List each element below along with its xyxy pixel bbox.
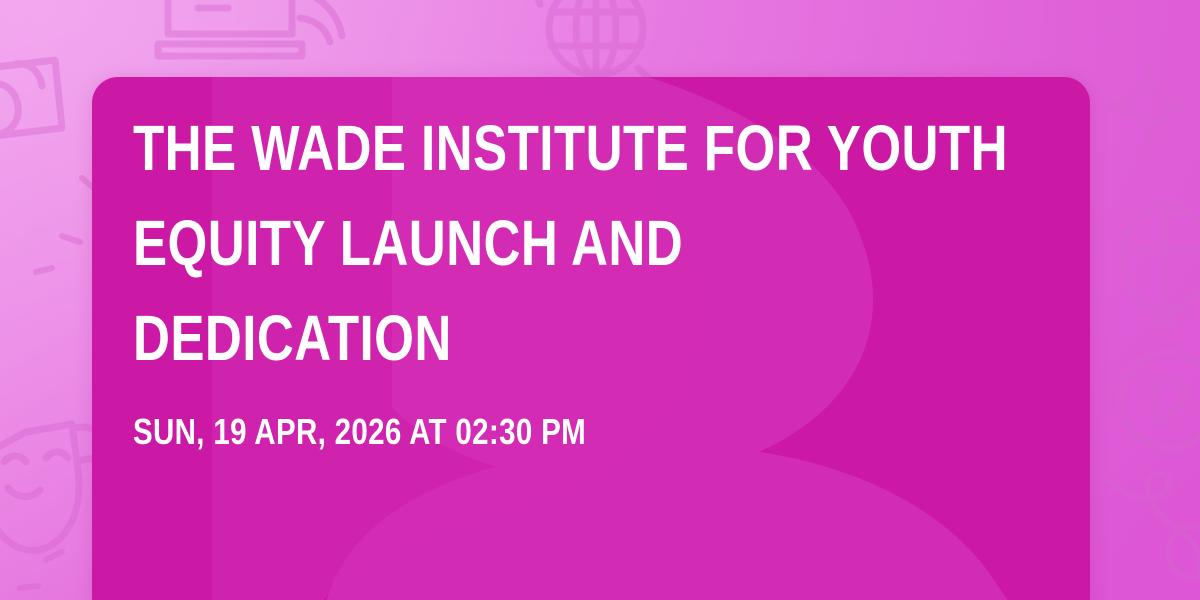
confetti-icon bbox=[538, 0, 546, 4]
event-banner: THE WADE INSTITUTE FOR YOUTH EQUITY LAUN… bbox=[0, 0, 1200, 600]
balloon-icon bbox=[1106, 473, 1200, 578]
confetti-icon bbox=[1098, 10, 1112, 30]
balloon-icon bbox=[1122, 206, 1200, 322]
heart-balloon-icon bbox=[1120, 352, 1200, 448]
event-title: THE WADE INSTITUTE FOR YOUTH EQUITY LAUN… bbox=[133, 101, 1029, 386]
party-popper-icon bbox=[292, 0, 342, 42]
confetti-icon bbox=[20, 552, 62, 588]
laptop-icon bbox=[158, 0, 302, 56]
confetti-icon bbox=[36, 178, 96, 272]
sparkle-icon bbox=[1110, 66, 1186, 146]
card-content: THE WADE INSTITUTE FOR YOUTH EQUITY LAUN… bbox=[133, 101, 1050, 454]
ticket-icon bbox=[0, 60, 62, 136]
event-date-time: SUN, 19 APR, 2026 AT 02:30 PM bbox=[133, 386, 789, 454]
event-card[interactable]: THE WADE INSTITUTE FOR YOUTH EQUITY LAUN… bbox=[92, 77, 1090, 600]
